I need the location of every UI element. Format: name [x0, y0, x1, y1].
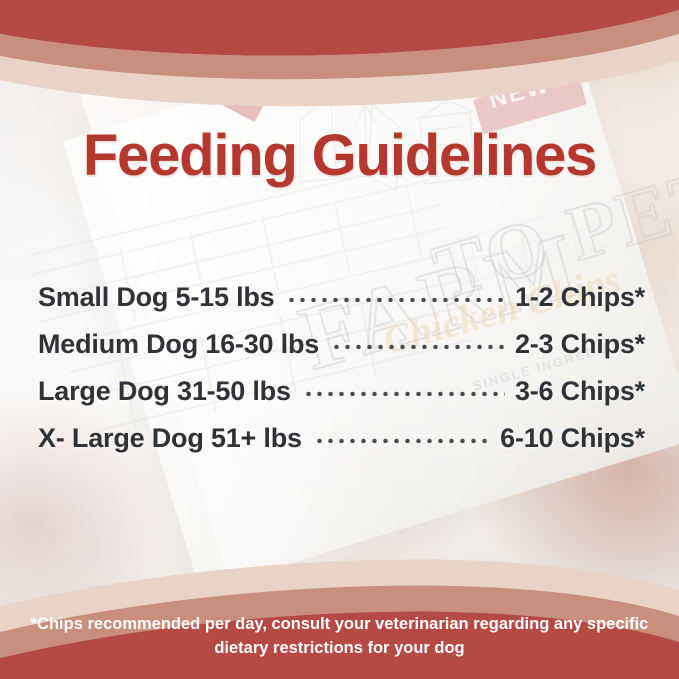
footer-disclaimer: *Chips recommended per day, consult your… [0, 613, 679, 661]
guideline-row: X- Large Dog 51+ lbs 6-10 Chips* [38, 423, 645, 470]
guideline-row: Medium Dog 16-30 lbs 2-3 Chips* [38, 329, 645, 376]
feeding-guidelines-poster: NEW Value Bag NEW [0, 0, 679, 679]
dot-leader [303, 386, 505, 396]
guideline-label: X- Large Dog 51+ lbs [38, 423, 302, 454]
guideline-row: Large Dog 31-50 lbs 3-6 Chips* [38, 376, 645, 423]
guideline-value: 6-10 Chips* [500, 423, 645, 454]
guideline-label: Small Dog 5-15 lbs [38, 282, 274, 313]
guideline-row: Small Dog 5-15 lbs 1-2 Chips* [38, 282, 645, 329]
dot-leader [314, 433, 490, 443]
page-title: Feeding Guidelines [0, 122, 679, 189]
feeding-guidelines-list: Small Dog 5-15 lbs 1-2 Chips* Medium Dog… [38, 282, 645, 470]
guideline-value: 3-6 Chips* [515, 376, 645, 407]
dot-leader [331, 339, 505, 349]
guideline-value: 1-2 Chips* [515, 282, 645, 313]
guideline-label: Large Dog 31-50 lbs [38, 376, 291, 407]
dot-leader [286, 292, 504, 302]
guideline-label: Medium Dog 16-30 lbs [38, 329, 319, 360]
guideline-value: 2-3 Chips* [515, 329, 645, 360]
